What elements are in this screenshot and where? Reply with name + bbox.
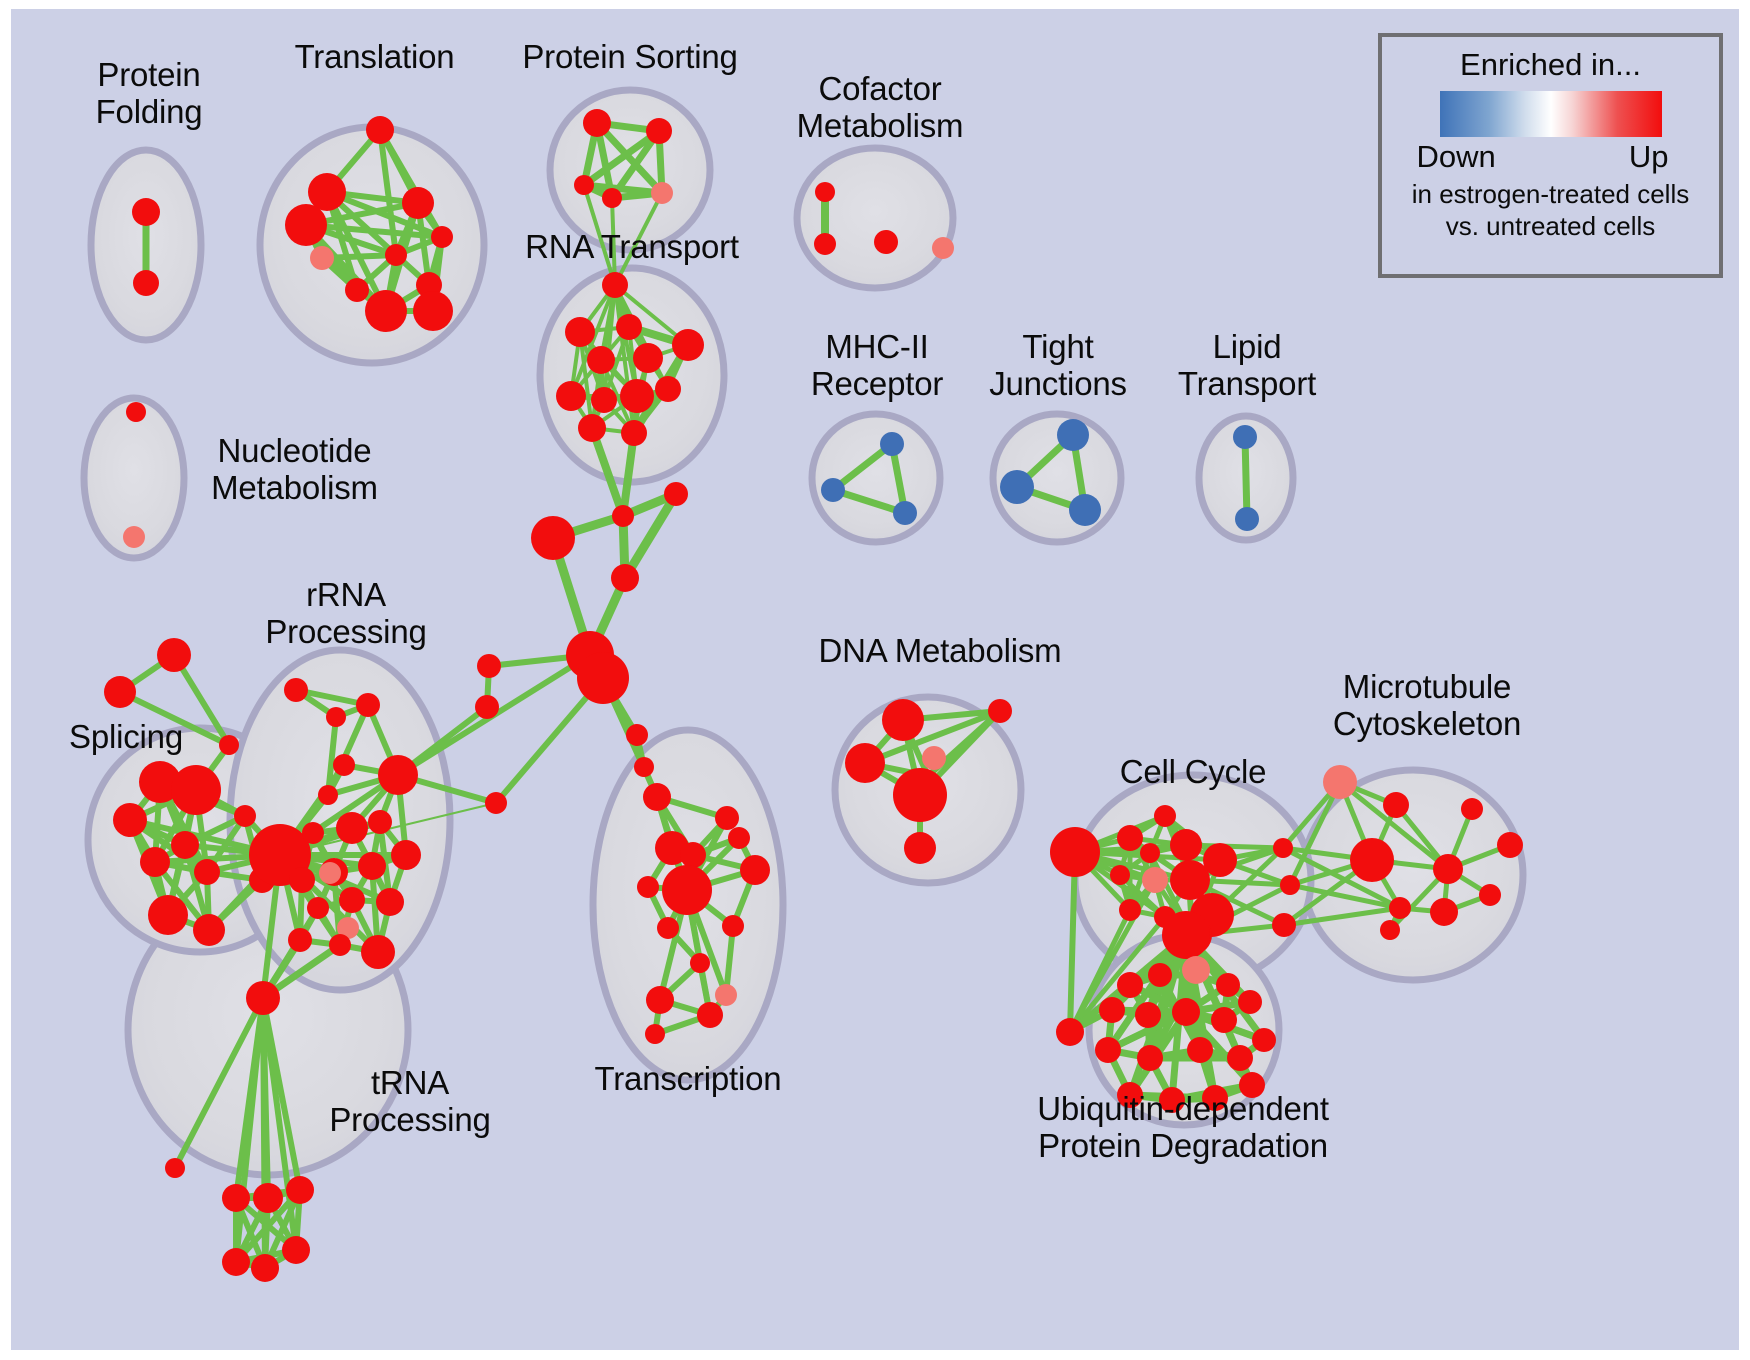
- cluster-label-trna-processing: tRNA Processing: [312, 1064, 508, 1138]
- node-up: [662, 865, 712, 915]
- legend-title: Enriched in...: [1382, 47, 1719, 83]
- node-up-mid: [715, 984, 737, 1006]
- node-up: [620, 379, 654, 413]
- node-up: [368, 810, 392, 834]
- node-up: [1433, 854, 1463, 884]
- node-up-mid: [1182, 956, 1210, 984]
- node-up: [1273, 838, 1293, 858]
- node-up: [583, 109, 611, 137]
- node-up: [402, 187, 434, 219]
- node-up: [1148, 963, 1172, 987]
- node-up: [339, 887, 365, 913]
- node-up: [1187, 1037, 1213, 1063]
- node-up: [286, 1176, 314, 1204]
- cluster-label-rrna-processing: rRNA Processing: [248, 576, 444, 650]
- node-up: [356, 693, 380, 717]
- node-up: [1099, 997, 1125, 1023]
- node-up: [697, 1002, 723, 1028]
- cluster-label-splicing: Splicing: [52, 718, 200, 755]
- node-up: [882, 699, 924, 741]
- node-up: [634, 757, 654, 777]
- node-up: [376, 888, 404, 916]
- legend-caption-line-1: in estrogen-treated cells: [1382, 179, 1719, 209]
- node-up: [1380, 920, 1400, 940]
- node-up: [358, 852, 386, 880]
- node-up: [655, 376, 681, 402]
- node-up: [1383, 792, 1409, 818]
- node-up: [336, 812, 368, 844]
- cluster-bubble-cofactor-metabolism: [797, 148, 953, 288]
- node-up: [289, 867, 315, 893]
- node-up: [1135, 1002, 1161, 1028]
- node-up: [284, 678, 308, 702]
- node-up: [288, 928, 312, 952]
- cluster-label-ubiquitin-degradation: Ubiquitin-dependent Protein Degradation: [988, 1090, 1378, 1164]
- node-up: [672, 329, 704, 361]
- node-up: [646, 986, 674, 1014]
- node-up: [361, 935, 395, 969]
- node-up: [1430, 898, 1458, 926]
- node-up: [104, 676, 136, 708]
- legend-caption-line-2: vs. untreated cells: [1382, 211, 1719, 241]
- node-up: [556, 381, 586, 411]
- node-up: [194, 859, 220, 885]
- node-up: [165, 1158, 185, 1178]
- node-up: [664, 482, 688, 506]
- node-up-mid: [932, 237, 954, 259]
- node-up: [646, 118, 672, 144]
- node-up: [1211, 1007, 1237, 1033]
- node-up: [329, 934, 351, 956]
- node-up: [1095, 1037, 1121, 1063]
- node-up: [391, 840, 421, 870]
- node-down: [1235, 507, 1259, 531]
- node-up: [874, 230, 898, 254]
- node-up: [612, 505, 634, 527]
- node-up: [602, 272, 628, 298]
- node-up: [365, 290, 407, 332]
- node-up: [645, 1024, 665, 1044]
- legend-up-label: Up: [1629, 139, 1669, 175]
- cluster-label-protein-folding: Protein Folding: [64, 56, 234, 130]
- cluster-label-tight-junctions: Tight Junctions: [975, 328, 1141, 402]
- cluster-label-lipid-transport: Lipid Transport: [1163, 328, 1331, 402]
- node-up: [1238, 990, 1262, 1014]
- node-up: [126, 402, 146, 422]
- node-up: [1137, 1045, 1163, 1071]
- node-up: [333, 754, 355, 776]
- node-up-mid: [1142, 867, 1168, 893]
- node-down: [1000, 470, 1034, 504]
- node-up: [531, 516, 575, 560]
- node-up: [1252, 1028, 1276, 1052]
- node-up: [657, 917, 679, 939]
- node-up: [740, 855, 770, 885]
- node-up: [602, 188, 622, 208]
- node-up: [251, 1254, 279, 1282]
- node-up: [565, 317, 595, 347]
- node-up: [611, 564, 639, 592]
- cluster-label-mhc-ii-receptor: MHC-II Receptor: [796, 328, 958, 402]
- node-up: [626, 724, 648, 746]
- node-up: [1117, 825, 1143, 851]
- node-up: [475, 695, 499, 719]
- node-up: [1170, 860, 1210, 900]
- node-up: [193, 914, 225, 946]
- node-up: [1140, 843, 1160, 863]
- node-up-mid: [319, 862, 341, 884]
- node-up: [815, 182, 835, 202]
- figure-canvas: Protein Folding Translation Protein Sort…: [0, 0, 1750, 1360]
- node-up: [282, 1236, 310, 1264]
- node-up-mid: [651, 182, 673, 204]
- node-up: [904, 832, 936, 864]
- node-up: [1350, 838, 1394, 882]
- node-up: [1461, 798, 1483, 820]
- node-up: [222, 1184, 250, 1212]
- node-up: [366, 116, 394, 144]
- node-up: [1170, 829, 1202, 861]
- node-up: [378, 755, 418, 795]
- node-up: [1172, 998, 1200, 1026]
- node-up: [413, 291, 453, 331]
- node-up: [1227, 1045, 1253, 1071]
- node-up: [1479, 884, 1501, 906]
- node-up: [140, 847, 170, 877]
- node-up: [1050, 827, 1100, 877]
- node-up: [893, 768, 947, 822]
- cluster-label-microtubule-cytoskeleton: Microtubule Cytoskeleton: [1302, 668, 1552, 742]
- node-up: [326, 707, 346, 727]
- node-up: [988, 699, 1012, 723]
- node-up: [1389, 897, 1411, 919]
- cluster-label-translation: Translation: [272, 38, 477, 75]
- node-up: [1272, 913, 1296, 937]
- legend-down-label: Down: [1417, 139, 1496, 175]
- node-up: [680, 842, 706, 868]
- node-up: [728, 827, 750, 849]
- node-up: [113, 803, 147, 837]
- node-up-mid: [1323, 765, 1357, 799]
- node-up: [814, 233, 836, 255]
- node-up: [148, 895, 188, 935]
- node-up: [1162, 911, 1210, 959]
- cluster-label-protein-sorting: Protein Sorting: [500, 38, 760, 75]
- node-up: [171, 765, 221, 815]
- node-up: [1117, 972, 1143, 998]
- node-up: [485, 792, 507, 814]
- node-up: [318, 785, 338, 805]
- node-up: [1280, 875, 1300, 895]
- node-up-mid: [310, 246, 334, 270]
- node-up: [234, 805, 256, 827]
- legend-box: Enriched in... Down Up in estrogen-treat…: [1378, 33, 1723, 278]
- node-down: [893, 501, 917, 525]
- node-up: [845, 743, 885, 783]
- node-down: [1233, 425, 1257, 449]
- node-up-mid: [922, 746, 946, 770]
- node-down: [821, 478, 845, 502]
- node-up: [219, 735, 239, 755]
- node-up: [222, 1248, 250, 1276]
- node-up-mid: [123, 526, 145, 548]
- node-up: [1119, 899, 1141, 921]
- cluster-label-nucleotide-metabolism: Nucleotide Metabolism: [192, 432, 397, 506]
- node-up: [285, 204, 327, 246]
- node-down: [1057, 419, 1089, 451]
- node-up: [157, 638, 191, 672]
- node-up: [591, 387, 617, 413]
- node-up: [1154, 805, 1176, 827]
- cluster-bubble-mhc-ii-receptor: [812, 414, 940, 542]
- node-up: [616, 314, 642, 340]
- node-up: [633, 343, 663, 373]
- node-up: [1056, 1018, 1084, 1046]
- node-up: [133, 270, 159, 296]
- node-up: [1110, 865, 1130, 885]
- node-up: [578, 414, 606, 442]
- node-up: [621, 420, 647, 446]
- node-up: [385, 244, 407, 266]
- node-up: [307, 897, 329, 919]
- node-up: [637, 876, 659, 898]
- node-up: [477, 654, 501, 678]
- legend-endpoints: Down Up: [1411, 139, 1691, 177]
- node-up: [132, 198, 160, 226]
- cluster-label-cell-cycle: Cell Cycle: [1098, 753, 1288, 790]
- node-up: [302, 822, 324, 844]
- node-up: [253, 1183, 283, 1213]
- cluster-label-cofactor-metabolism: Cofactor Metabolism: [780, 70, 980, 144]
- node-down: [1069, 494, 1101, 526]
- node-up: [1497, 832, 1523, 858]
- node-up: [643, 783, 671, 811]
- node-up: [308, 173, 346, 211]
- node-up: [577, 652, 629, 704]
- node-up: [574, 175, 594, 195]
- cluster-label-rna-transport: RNA Transport: [508, 228, 756, 265]
- node-up: [587, 346, 615, 374]
- node-up: [1216, 973, 1240, 997]
- node-up: [715, 806, 739, 830]
- cluster-label-dna-metabolism: DNA Metabolism: [806, 632, 1074, 669]
- node-down: [880, 432, 904, 456]
- node-up: [431, 226, 453, 248]
- node-up: [171, 831, 199, 859]
- node-up: [722, 915, 744, 937]
- node-up: [690, 953, 710, 973]
- node-up: [345, 278, 369, 302]
- node-up: [246, 981, 280, 1015]
- cluster-label-transcription: Transcription: [570, 1060, 806, 1097]
- legend-color-gradient-bar: [1440, 91, 1662, 137]
